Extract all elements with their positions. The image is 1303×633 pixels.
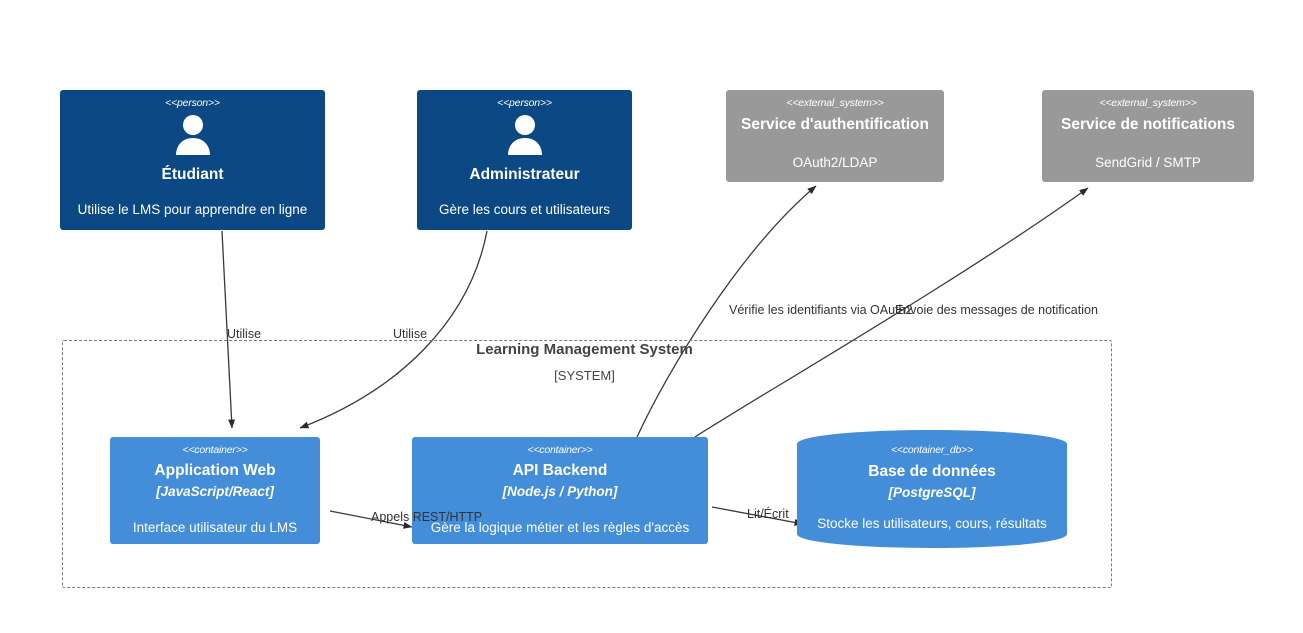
edge-label-appels-rest-http: Appels REST/HTTP [371, 511, 482, 524]
stereotype-label: <<container>> [527, 445, 592, 456]
stereotype-label: <<container_db>> [891, 445, 973, 456]
edge-label-envoie-messages-notification: Envoie des messages de notification [895, 304, 1098, 317]
node-description: Interface utilisateur du LMS [133, 520, 297, 536]
node-title: Service de notifications [1061, 116, 1235, 133]
node-person-etudiant[interactable]: <<person>> Étudiant Utilise le LMS pour … [60, 90, 325, 230]
diagram-canvas: Learning Management System [SYSTEM] <<pe… [0, 0, 1303, 633]
node-database-base-de-donnees[interactable]: <<container_db>> Base de données [Postgr… [797, 430, 1067, 548]
node-description: Gère les cours et utilisateurs [439, 202, 610, 218]
node-title: Application Web [154, 462, 275, 479]
stereotype-label: <<person>> [497, 98, 552, 109]
stereotype-label: <<container>> [182, 445, 247, 456]
edge-label-utilise-administrateur: Utilise [393, 328, 427, 341]
person-icon [171, 113, 215, 162]
node-technology: [PostgreSQL] [888, 486, 975, 501]
stereotype-label: <<external_system>> [1099, 98, 1196, 109]
node-title: Base de données [868, 463, 996, 480]
person-icon [503, 113, 547, 162]
system-boundary-title: Learning Management System [413, 341, 756, 358]
stereotype-label: <<external_system>> [786, 98, 883, 109]
node-external-system-notifications[interactable]: <<external_system>> Service de notificat… [1042, 90, 1254, 182]
edge-label-lit-ecrit: Lit/Écrit [747, 508, 789, 521]
edge-label-verifie-identifiants-oauth2: Vérifie les identifiants via OAuth2 [729, 304, 912, 317]
node-title: Étudiant [162, 166, 224, 183]
node-description: OAuth2/LDAP [793, 155, 878, 171]
node-title: Administrateur [469, 166, 579, 183]
system-boundary-subtitle: [SYSTEM] [413, 368, 756, 383]
node-description: Utilise le LMS pour apprendre en ligne [78, 202, 308, 218]
node-external-system-authentification[interactable]: <<external_system>> Service d'authentifi… [726, 90, 944, 182]
node-description: SendGrid / SMTP [1095, 155, 1201, 171]
node-person-administrateur[interactable]: <<person>> Administrateur Gère les cours… [417, 90, 632, 230]
node-container-application-web[interactable]: <<container>> Application Web [JavaScrip… [110, 437, 320, 544]
node-container-api-backend[interactable]: <<container>> API Backend [Node.js / Pyt… [412, 437, 708, 544]
node-technology: [JavaScript/React] [156, 485, 274, 500]
edge-label-utilise-etudiant: Utilise [227, 328, 261, 341]
node-technology: [Node.js / Python] [503, 485, 618, 500]
node-title: Service d'authentification [741, 116, 929, 133]
stereotype-label: <<person>> [165, 98, 220, 109]
node-description: Stocke les utilisateurs, cours, résultat… [817, 516, 1047, 532]
node-title: API Backend [513, 462, 608, 479]
